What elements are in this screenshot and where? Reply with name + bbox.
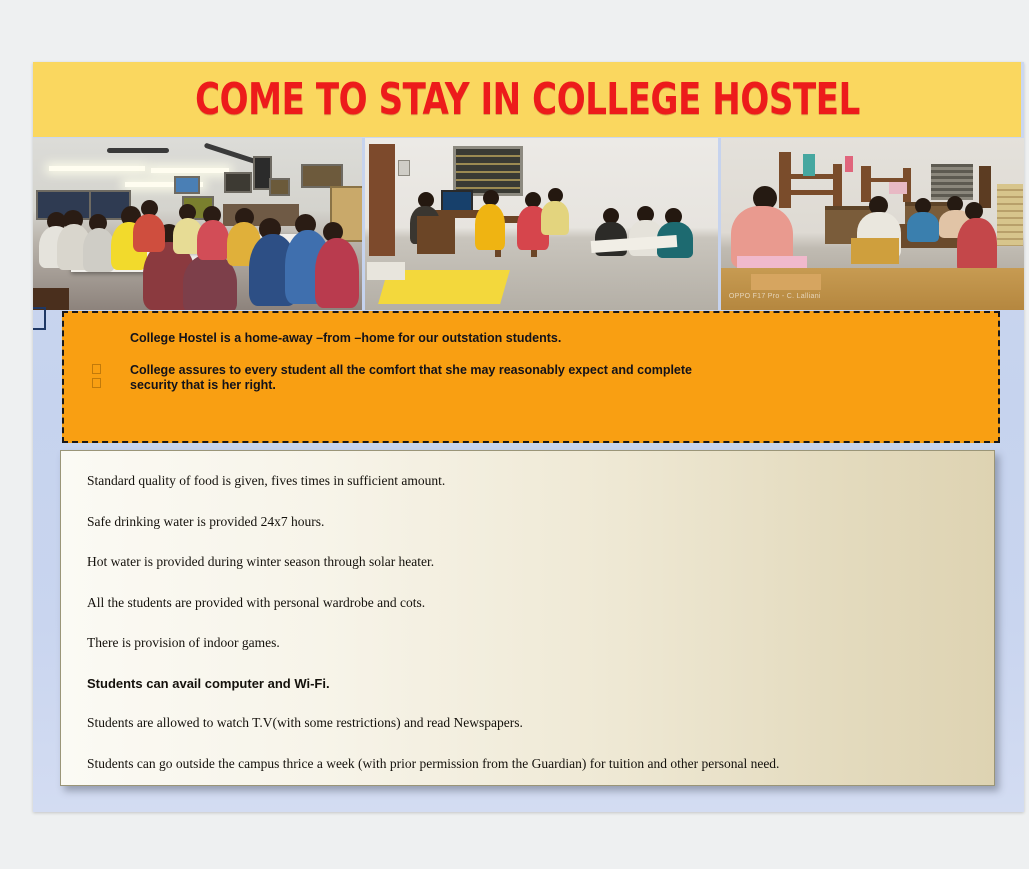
hostel-dining-hall-photo [33,138,362,310]
bullet-tofu-icon-2 [92,378,101,388]
facility-item: Students are allowed to watch T.V(with s… [87,715,968,731]
missing-glyph-icon [33,307,46,330]
facility-item: Safe drinking water is provided 24x7 hou… [87,514,968,530]
photo-strip: OPPO F17 Pro - C. Lalliani [33,138,1024,310]
facility-item: All the students are provided with perso… [87,595,968,611]
highlight-line-1: College Hostel is a home-away –from –hom… [130,331,561,346]
hostel-dormitory-photo: OPPO F17 Pro - C. Lalliani [721,138,1024,310]
title-banner: COME TO STAY IN COLLEGE HOSTEL [33,62,1021,137]
page-title: COME TO STAY IN COLLEGE HOSTEL [195,74,860,125]
facility-item: Students can go outside the campus thric… [87,756,968,772]
hostel-study-room-photo [365,138,718,310]
facility-item: Hot water is provided during winter seas… [87,554,968,570]
highlight-box: College Hostel is a home-away –from –hom… [62,311,1000,443]
highlight-line-2: College assures to every student all the… [130,363,730,393]
facility-item: There is provision of indoor games. [87,635,968,651]
bullet-tofu-icon-1 [92,364,101,374]
camera-watermark: OPPO F17 Pro - C. Lalliani [729,293,821,300]
facilities-panel: Standard quality of food is given, fives… [60,450,995,786]
facility-item-highlighted: Students can avail computer and Wi-Fi. [87,676,968,691]
page-root: COME TO STAY IN COLLEGE HOSTEL [0,0,1029,869]
facility-item: Standard quality of food is given, fives… [87,473,968,489]
presentation-slide: COME TO STAY IN COLLEGE HOSTEL [33,62,1024,812]
